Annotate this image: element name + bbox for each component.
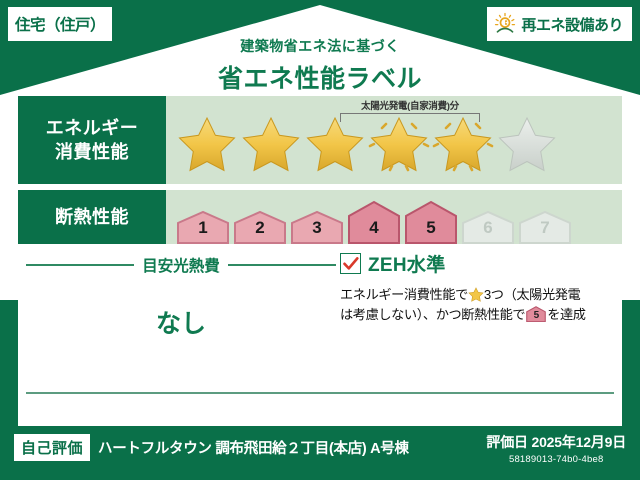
utility-cost-heading-text: 目安光熱費 [142, 254, 220, 276]
energy-label-line2: 消費性能 [55, 140, 129, 164]
zeh-title: ZEH水準 [368, 250, 446, 277]
lower-info-area: 目安光熱費 なし ZEH水準 エネルギー消費性能で3つ（太陽光発電 は考慮 [18, 244, 622, 426]
label-footer: 自己評価 ハートフルタウン 調布飛田給２丁目(本店) A号棟 評価日 2025年… [0, 426, 640, 480]
energy-performance-label: 住宅（住戸） 再エネ設備あり 建築物省エネ法に基づく 省エネ性能ラベル [0, 0, 640, 480]
grade-inline-value: 5 [526, 306, 546, 322]
grade-badge-7: 7 [518, 210, 572, 244]
grade-badge-2: 2 [233, 210, 287, 244]
star-filled [176, 112, 238, 172]
zeh-desc-part3: は考慮しない）、かつ断熱性能で [340, 307, 525, 322]
evaluation-id: 58189013-74b0-4be8 [486, 454, 626, 465]
energy-label-line1: エネルギー [46, 116, 139, 140]
zeh-checkbox [340, 253, 361, 274]
insulation-performance-label-box: 断熱性能 [18, 190, 166, 244]
renewable-badge-label: 再エネ設備あり [521, 14, 623, 35]
grade-badge-6: 6 [461, 210, 515, 244]
building-type-tag: 住宅（住戸） [8, 7, 112, 41]
renewable-equipment-badge: 再エネ設備あり [487, 7, 632, 41]
evaluation-date: 評価日 2025年12月9日 [486, 432, 626, 452]
checkmark-icon [343, 257, 359, 271]
grade-value: 1 [198, 218, 207, 238]
grade-badge-5: 5 [404, 200, 458, 244]
grade-value: 5 [426, 218, 435, 238]
property-name: ハートフルタウン 調布飛田給２丁目(本店) A号棟 [98, 437, 409, 458]
star-filled [240, 112, 302, 172]
zeh-desc-part2: 3つ（太陽光発電 [484, 287, 580, 302]
grade-badge-4: 4 [347, 200, 401, 244]
label-body-card: エネルギー 消費性能 太陽光発電(自家消費)分 [18, 96, 622, 426]
zeh-desc-part1: エネルギー消費性能で [340, 287, 468, 302]
label-title: 省エネ性能ラベル [0, 59, 640, 95]
utility-cost-value: なし [26, 304, 336, 340]
grade-value: 6 [483, 218, 492, 238]
star-filled-solar [432, 112, 494, 172]
energy-star-rating [176, 112, 558, 172]
self-evaluation-badge: 自己評価 [14, 434, 90, 461]
heading-rule-left [26, 264, 134, 266]
grade-value: 7 [540, 218, 549, 238]
insulation-grade-scale: 1 2 3 [176, 190, 572, 244]
star-empty [496, 112, 558, 172]
grade-value: 3 [312, 218, 321, 238]
grade-inline-badge: 5 [526, 306, 546, 322]
grade-badge-1: 1 [176, 210, 230, 244]
zeh-desc-part4: を達成 [547, 307, 585, 322]
grade-value: 4 [369, 218, 378, 238]
solar-annotation-text: 太陽光発電(自家消費)分 [340, 98, 480, 112]
bottom-divider [26, 392, 614, 394]
footer-left-group: 自己評価 ハートフルタウン 調布飛田給２丁目(本店) A号棟 [14, 434, 409, 461]
label-header: 建築物省エネ法に基づく 省エネ性能ラベル [0, 36, 640, 95]
energy-performance-label-box: エネルギー 消費性能 [18, 96, 166, 184]
zeh-description: エネルギー消費性能で3つ（太陽光発電 は考慮しない）、かつ断熱性能で5を達成 [340, 285, 618, 326]
energy-rating-area: 太陽光発電(自家消費)分 [166, 96, 622, 184]
utility-cost-heading: 目安光熱費 [26, 254, 336, 276]
building-type-label: 住宅（住戸） [15, 13, 105, 35]
heading-rule-right [228, 264, 336, 266]
zeh-heading: ZEH水準 [340, 250, 618, 277]
sun-renewable-icon [493, 12, 517, 36]
footer-right-group: 評価日 2025年12月9日 58189013-74b0-4be8 [486, 432, 626, 465]
star-filled-solar [368, 112, 430, 172]
estimated-utility-cost-block: 目安光熱費 なし [26, 254, 336, 340]
insulation-performance-row: 断熱性能 1 2 [18, 190, 622, 244]
star-inline-icon [468, 286, 484, 302]
zeh-standard-block: ZEH水準 エネルギー消費性能で3つ（太陽光発電 は考慮しない）、かつ断熱性能で… [340, 250, 618, 326]
energy-performance-row: エネルギー 消費性能 太陽光発電(自家消費)分 [18, 96, 622, 184]
star-filled [304, 112, 366, 172]
grade-value: 2 [255, 218, 264, 238]
insulation-label: 断熱性能 [55, 205, 129, 229]
grade-badge-3: 3 [290, 210, 344, 244]
insulation-grade-area: 1 2 3 [166, 190, 622, 244]
